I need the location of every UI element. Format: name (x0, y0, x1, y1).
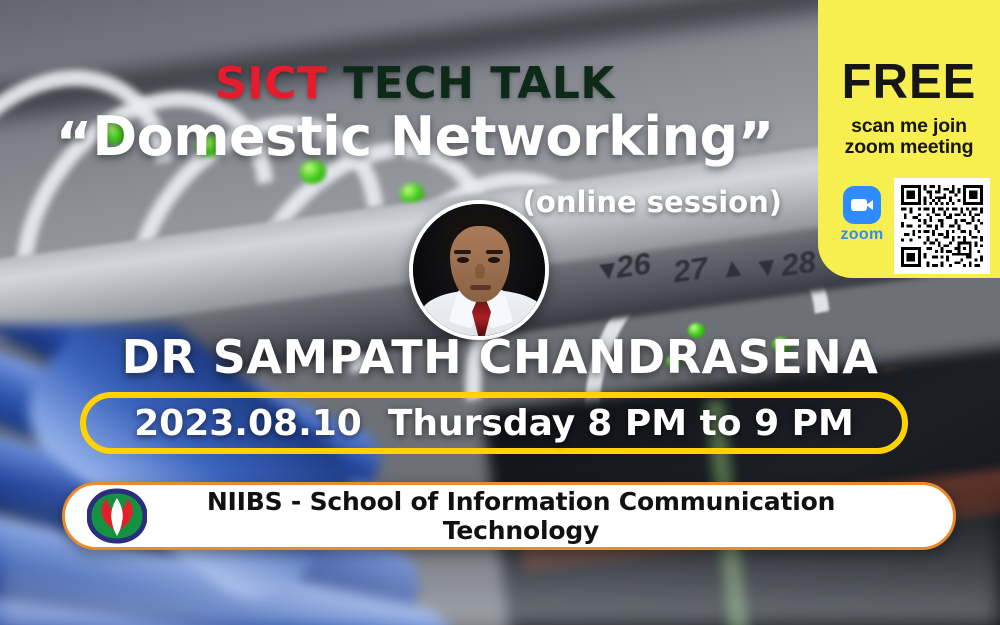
zoom-wordmark: zoom (834, 226, 890, 244)
quote-open: “ (56, 116, 93, 172)
free-zoom-panel: FREE scan me join zoom meeting zoom (818, 0, 1000, 278)
session-note: (online session) (0, 185, 782, 219)
port-number-26: 26 (614, 246, 653, 286)
schedule-text: 2023.08.10Thursday8 PM to 9 PM (134, 403, 854, 444)
port-number-27: 27 (671, 250, 710, 290)
kicker-tech-talk: TECH TALK (343, 58, 615, 109)
speaker-name: DR SAMPATH CHANDRASENA (0, 330, 1000, 384)
schedule-time: 8 PM to 9 PM (587, 403, 854, 444)
free-subtitle-line1: scan me join (824, 116, 994, 137)
quote-close: ” (738, 116, 775, 172)
kicker-line: SICT TECH TALK (0, 62, 830, 106)
port-number-28: 28 (779, 244, 818, 284)
port-marker-up-27: ▲ (717, 251, 748, 285)
port-marker-down-28: ▼ (752, 250, 783, 284)
topic-title: Domestic Networking (92, 110, 737, 164)
video-camera-icon (843, 186, 881, 224)
niibs-logo (87, 488, 147, 544)
organization-bar: NIIBS - School of Information Communicat… (62, 482, 956, 550)
free-label: FREE (818, 58, 1000, 107)
free-subtitle: scan me join zoom meeting (824, 116, 994, 158)
zoom-brand: zoom (834, 186, 890, 244)
poster-canvas: ▼ 26 27 ▲ ▼ 28 29 ▲ ▼ 30 31 ▲ (0, 0, 1000, 625)
topic-line: “Domestic Networking” (0, 110, 830, 166)
kicker-sict: SICT (215, 58, 327, 109)
organization-name: NIIBS - School of Information Communicat… (147, 487, 953, 545)
free-subtitle-line2: zoom meeting (824, 137, 994, 158)
headline-block: SICT TECH TALK “Domestic Networking” (0, 62, 830, 166)
qr-code[interactable] (894, 178, 990, 274)
schedule-date: 2023.08.10 (134, 403, 362, 444)
schedule-day: Thursday (388, 403, 575, 444)
speaker-portrait (409, 200, 549, 340)
schedule-band: 2023.08.10Thursday8 PM to 9 PM (80, 392, 908, 454)
